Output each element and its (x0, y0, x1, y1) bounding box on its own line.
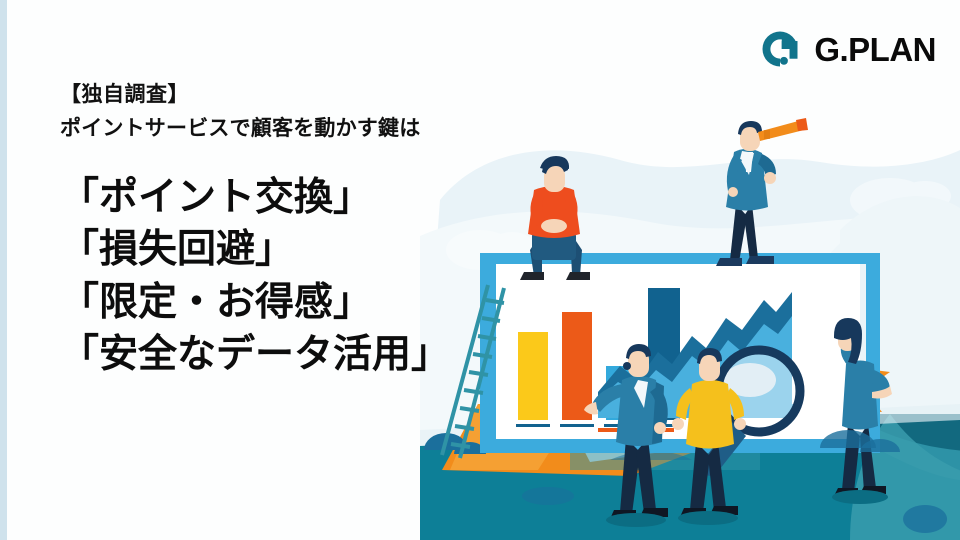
headline-line-4: 「安全なデータ活用」 (60, 329, 450, 381)
illustration-region (420, 0, 960, 540)
page-title: 「ポイント交換」 「損失回避」 「限定・お得感」 「安全なデータ活用」 (60, 172, 450, 381)
headline-line-2: 「損失回避」 (60, 224, 450, 276)
eyebrow-label: 【独自調査】 (60, 84, 189, 106)
brand-logo: G.PLAN (759, 28, 936, 70)
subhead-label: ポイントサービスで顧客を動かす鍵は (60, 118, 420, 140)
headline-line-1: 「ポイント交換」 (60, 172, 450, 224)
g-plan-circular-g-mark (759, 28, 801, 70)
headline-line-3: 「限定・お得感」 (60, 277, 450, 329)
brand-logo-text: G.PLAN (814, 33, 936, 66)
slide-canvas: 【独自調査】 ポイントサービスで顧客を動かす鍵は 「ポイント交換」 「損失回避」… (0, 0, 960, 540)
text-block: 【独自調査】 ポイントサービスで顧客を動かす鍵は 「ポイント交換」 「損失回避」… (0, 0, 480, 540)
